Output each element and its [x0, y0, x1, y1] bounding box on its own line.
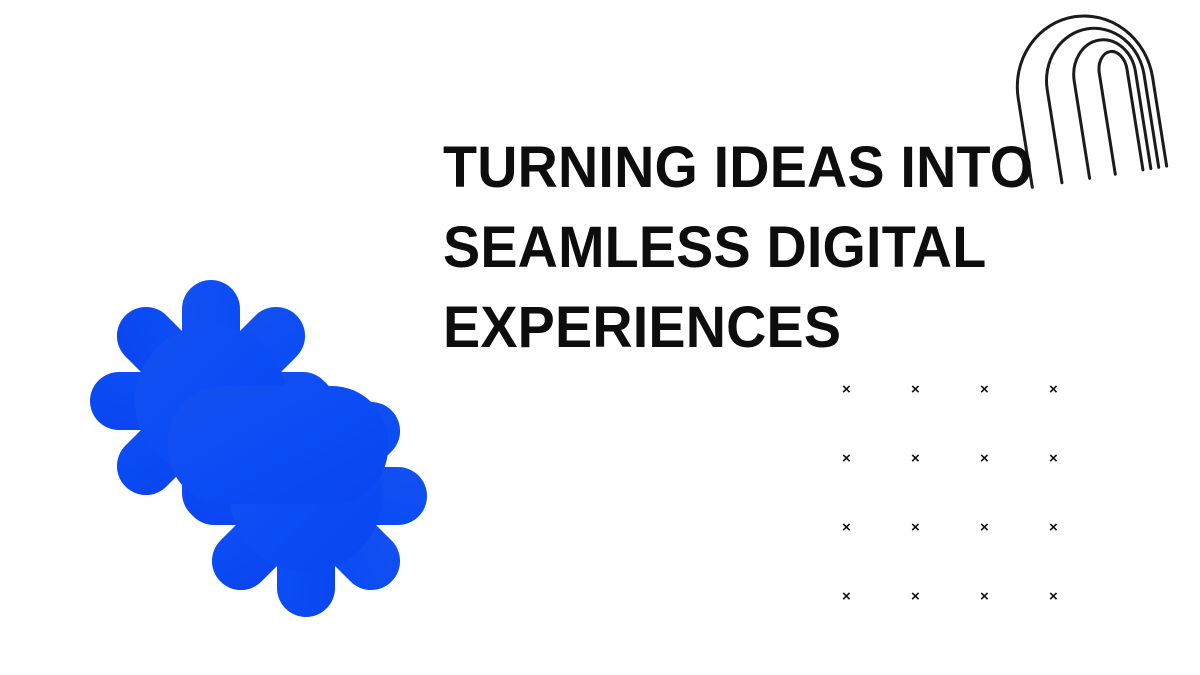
- x-mark-cell: ×: [1047, 585, 1116, 654]
- x-mark-icon: ×: [980, 589, 989, 604]
- x-mark-icon: ×: [842, 520, 851, 535]
- x-mark-cell: ×: [909, 378, 978, 447]
- x-mark-cell: ×: [978, 585, 1047, 654]
- x-mark-cell: ×: [978, 447, 1047, 516]
- x-mark-icon: ×: [911, 589, 920, 604]
- x-mark-icon: ×: [1049, 451, 1058, 466]
- x-mark-icon: ×: [842, 382, 851, 397]
- x-mark-icon: ×: [1049, 520, 1058, 535]
- arch-line-4: [1096, 49, 1143, 174]
- blob-burst-lower: [185, 375, 427, 617]
- x-mark-icon: ×: [980, 520, 989, 535]
- x-mark-cell: ×: [1047, 378, 1116, 447]
- x-mark-icon: ×: [980, 451, 989, 466]
- x-mark-icon: ×: [911, 382, 920, 397]
- x-mark-cell: ×: [840, 585, 909, 654]
- x-mark-cell: ×: [1047, 516, 1116, 585]
- blob-connector: [168, 386, 388, 504]
- page-title: Turning ideas into seamless digital expe…: [443, 128, 1057, 368]
- x-mark-cell: ×: [1047, 447, 1116, 516]
- x-mark-grid-decoration: × × × × × × × × × × × × × × × ×: [840, 378, 1116, 654]
- x-mark-icon: ×: [842, 589, 851, 604]
- x-mark-cell: ×: [840, 447, 909, 516]
- blob-burst-upper: [90, 280, 332, 522]
- blob-shape-group: [90, 280, 427, 617]
- arch-line-3: [1068, 35, 1150, 178]
- x-mark-cell: ×: [978, 378, 1047, 447]
- x-mark-cell: ×: [840, 516, 909, 585]
- x-mark-icon: ×: [1049, 382, 1058, 397]
- blue-asterisk-blob-decoration: [78, 268, 438, 628]
- x-mark-icon: ×: [1049, 589, 1058, 604]
- x-mark-cell: ×: [909, 516, 978, 585]
- x-mark-cell: ×: [909, 585, 978, 654]
- x-mark-cell: ×: [978, 516, 1047, 585]
- x-mark-icon: ×: [980, 382, 989, 397]
- blue-asterisk-blob-svg: [78, 268, 438, 628]
- slide-canvas: Turning ideas into seamless digital expe…: [0, 0, 1200, 675]
- x-mark-cell: ×: [909, 447, 978, 516]
- x-mark-cell: ×: [840, 378, 909, 447]
- x-mark-icon: ×: [911, 451, 920, 466]
- x-mark-icon: ×: [842, 451, 851, 466]
- x-mark-icon: ×: [911, 520, 920, 535]
